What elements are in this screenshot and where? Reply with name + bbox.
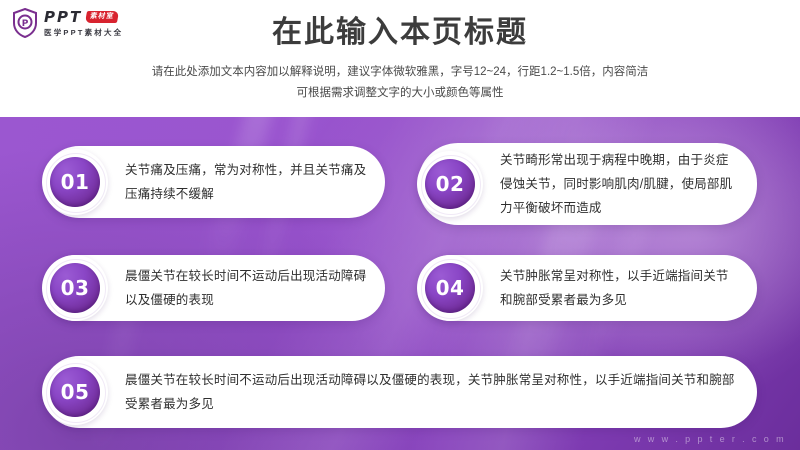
card-text-05: 晨僵关节在较长时间不运动后出现活动障碍以及僵硬的表现，关节肿胀常呈对称性，以手近… [43,368,757,416]
slide: w w w . p p t e r . c o m P PPT 素材室 医学PP… [0,0,800,450]
page-subtitle-line-1: 请在此处添加文本内容加以解释说明，建议字体微软雅黑，字号12~24，行距1.2~… [0,62,800,83]
page-title: 在此输入本页标题 [0,14,800,52]
badge-circle: 02 [425,159,475,209]
content-card-04[interactable]: 04 关节肿胀常呈对称性，以手近端指间关节和腕部受累者最为多见 [418,255,757,321]
card-number-02: 02 [436,174,465,194]
card-number-badge-03: 03 [42,255,108,321]
badge-circle: 03 [50,263,100,313]
header: P PPT 素材室 医学PPT素材大全 在此输入本页标题 请在此处添加文本内容加… [0,0,800,117]
card-number-04: 04 [436,278,465,298]
content-card-02[interactable]: 02 关节畸形常出现于病程中晚期，由于炎症侵蚀关节，同时影响肌肉/肌腱，使局部肌… [418,143,757,225]
card-number-badge-04: 04 [417,255,483,321]
page-subtitle: 请在此处添加文本内容加以解释说明，建议字体微软雅黑，字号12~24，行距1.2~… [0,62,800,104]
badge-circle: 05 [50,367,100,417]
card-number-badge-05: 05 [42,359,108,425]
page-subtitle-line-2: 可根据需求调整文字的大小或颜色等属性 [0,83,800,104]
badge-circle: 01 [50,157,100,207]
content-cards: 01 关节痛及压痛，常为对称性，并且关节痛及压痛持续不缓解 02 关节畸形常出现… [0,117,800,450]
card-number-badge-02: 02 [417,151,483,217]
card-number-03: 03 [61,278,90,298]
content-card-05[interactable]: 05 晨僵关节在较长时间不运动后出现活动障碍以及僵硬的表现，关节肿胀常呈对称性，… [43,356,757,428]
card-number-badge-01: 01 [42,149,108,215]
badge-circle: 04 [425,263,475,313]
content-card-01[interactable]: 01 关节痛及压痛，常为对称性，并且关节痛及压痛持续不缓解 [43,146,385,218]
content-card-03[interactable]: 03 晨僵关节在较长时间不运动后出现活动障碍以及僵硬的表现 [43,255,385,321]
card-number-05: 05 [61,382,90,402]
card-number-01: 01 [61,172,90,192]
